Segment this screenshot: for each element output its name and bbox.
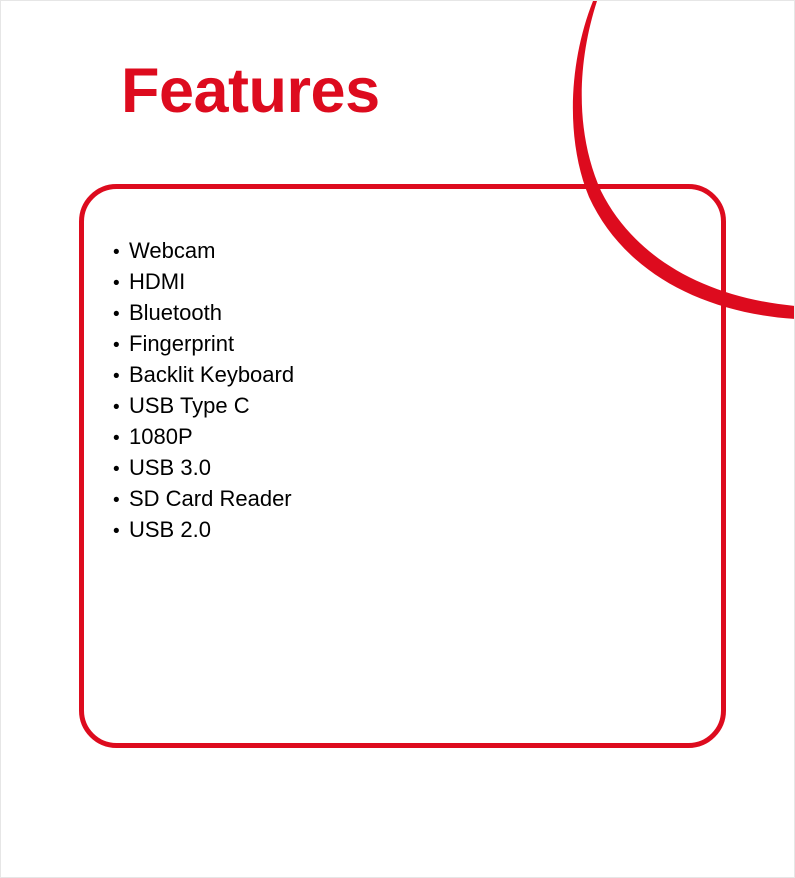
bullet-icon: • — [113, 268, 129, 299]
feature-label: SD Card Reader — [129, 483, 292, 514]
feature-list: • Webcam • HDMI • Bluetooth • Fingerprin… — [113, 235, 673, 545]
bullet-icon: • — [113, 330, 129, 361]
feature-label: 1080P — [129, 421, 193, 452]
bullet-icon: • — [113, 454, 129, 485]
bullet-icon: • — [113, 392, 129, 423]
bullet-icon: • — [113, 361, 129, 392]
feature-label: USB 3.0 — [129, 452, 211, 483]
list-item: • Backlit Keyboard — [113, 359, 673, 390]
bullet-icon: • — [113, 516, 129, 547]
list-item: • Webcam — [113, 235, 673, 266]
feature-label: Fingerprint — [129, 328, 234, 359]
bullet-icon: • — [113, 237, 129, 268]
list-item: • USB 2.0 — [113, 514, 673, 545]
list-item: • Fingerprint — [113, 328, 673, 359]
feature-label: Webcam — [129, 235, 215, 266]
feature-label: USB 2.0 — [129, 514, 211, 545]
feature-label: Bluetooth — [129, 297, 222, 328]
feature-label: HDMI — [129, 266, 185, 297]
list-item: • Bluetooth — [113, 297, 673, 328]
feature-label: USB Type C — [129, 390, 250, 421]
list-item: • USB 3.0 — [113, 452, 673, 483]
list-item: • USB Type C — [113, 390, 673, 421]
bullet-icon: • — [113, 299, 129, 330]
feature-label: Backlit Keyboard — [129, 359, 294, 390]
bullet-icon: • — [113, 423, 129, 454]
list-item: • SD Card Reader — [113, 483, 673, 514]
list-item: • 1080P — [113, 421, 673, 452]
bullet-icon: • — [113, 485, 129, 516]
list-item: • HDMI — [113, 266, 673, 297]
page-title: Features — [121, 58, 380, 124]
slide-canvas: Features • Webcam • HDMI • Bluetooth • F… — [0, 0, 795, 878]
